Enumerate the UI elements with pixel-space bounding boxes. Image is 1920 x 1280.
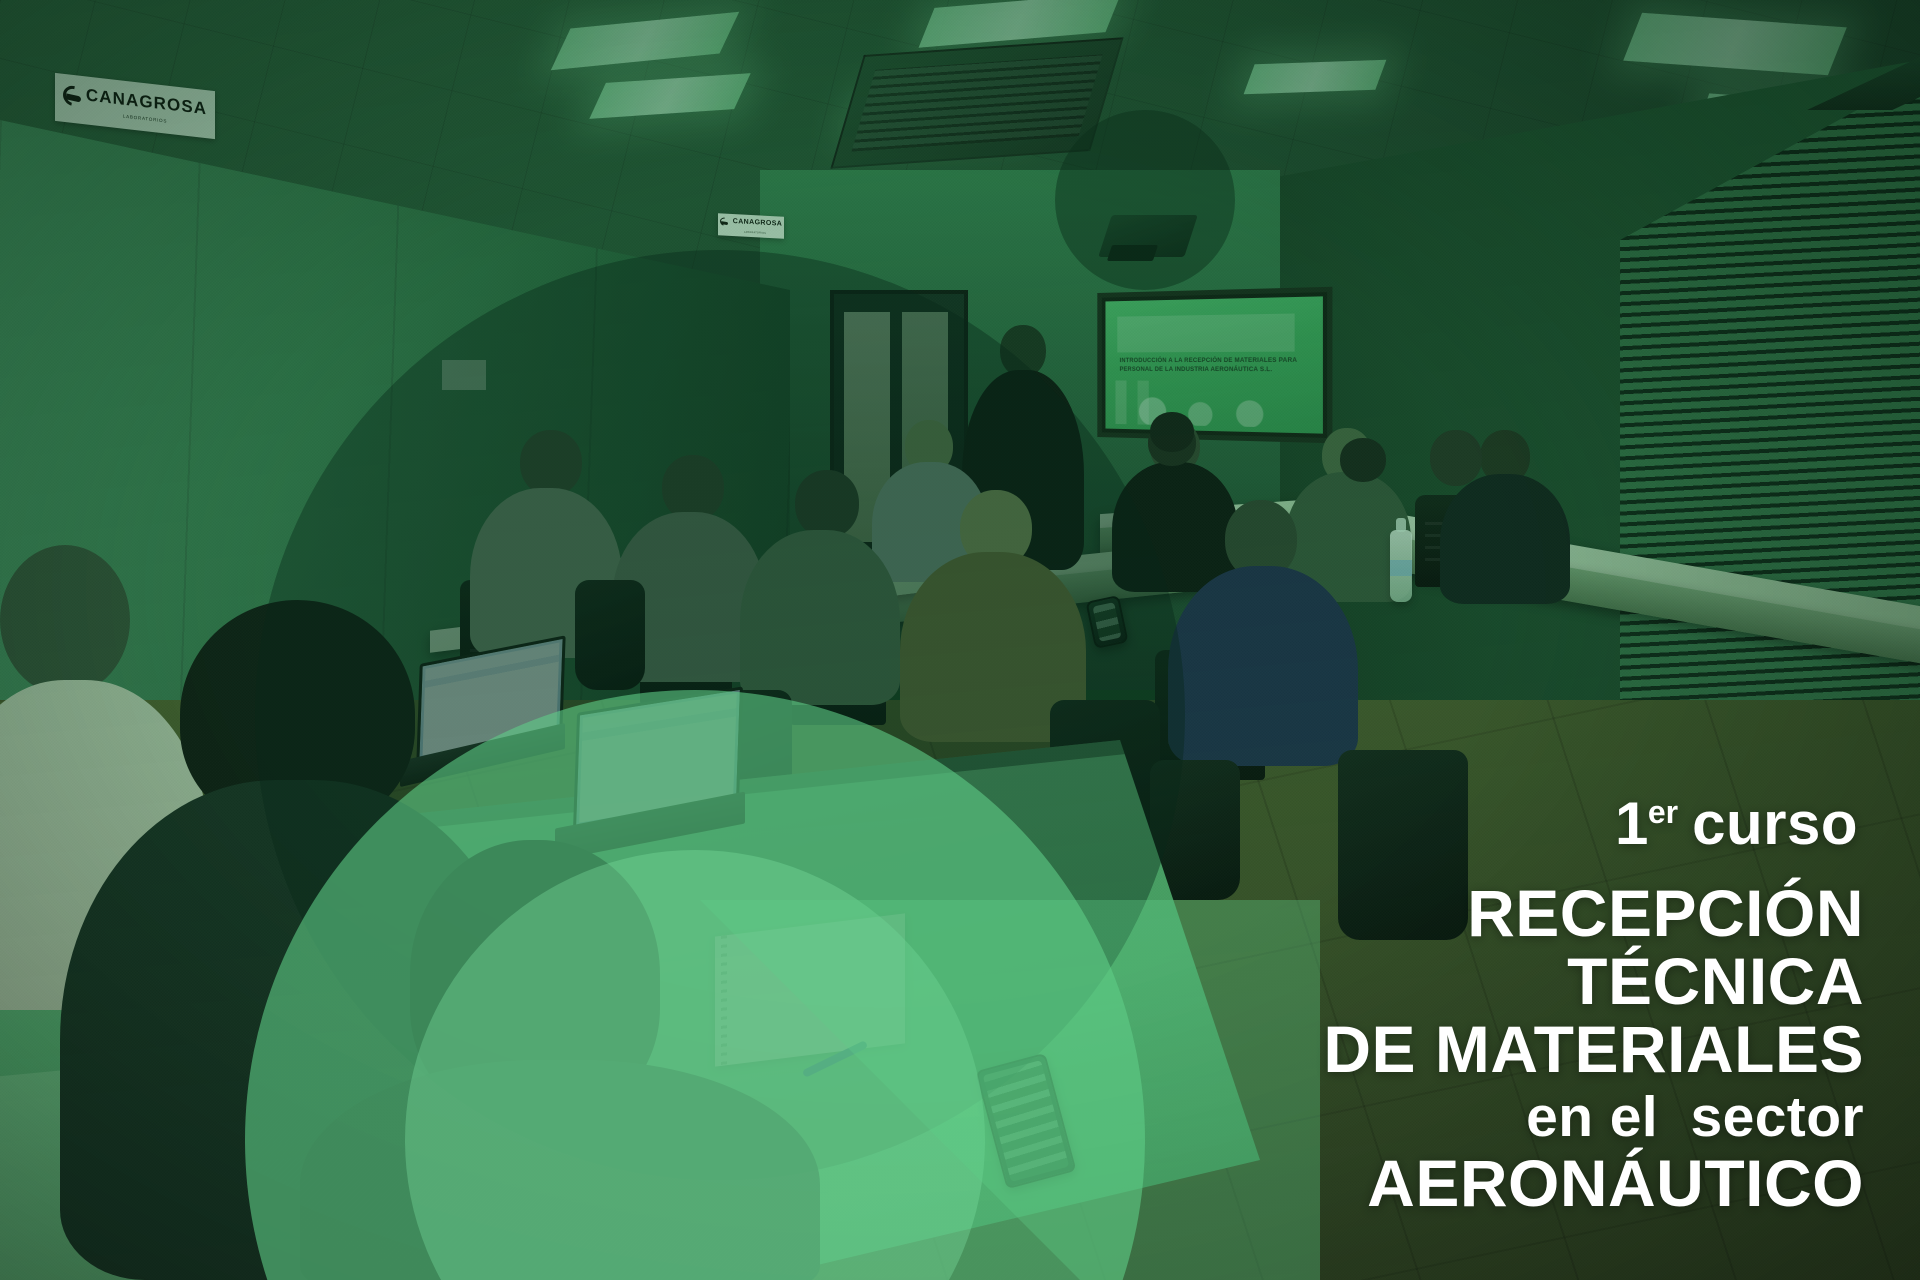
overlay-dark-circle — [1055, 110, 1235, 290]
title-line-4: en el sector — [1323, 1084, 1864, 1150]
title-line-1: RECEPCIÓN — [1323, 880, 1864, 948]
eyebrow-ordinal: er — [1648, 794, 1678, 830]
eyebrow-word: curso — [1692, 790, 1858, 857]
title-block: 1ercurso RECEPCIÓN TÉCNICA DE MATERIALES… — [1323, 794, 1864, 1218]
title-line-2: TÉCNICA — [1323, 948, 1864, 1016]
poster-root: INTRODUCCIÓN A LA RECEPCIÓN DE MATERIALE… — [0, 0, 1920, 1280]
title-line-3: DE MATERIALES — [1323, 1016, 1864, 1084]
eyebrow-number: 1 — [1615, 790, 1648, 857]
title-line-5: AERONÁUTICO — [1323, 1150, 1864, 1218]
course-eyebrow: 1ercurso — [1323, 794, 1858, 854]
